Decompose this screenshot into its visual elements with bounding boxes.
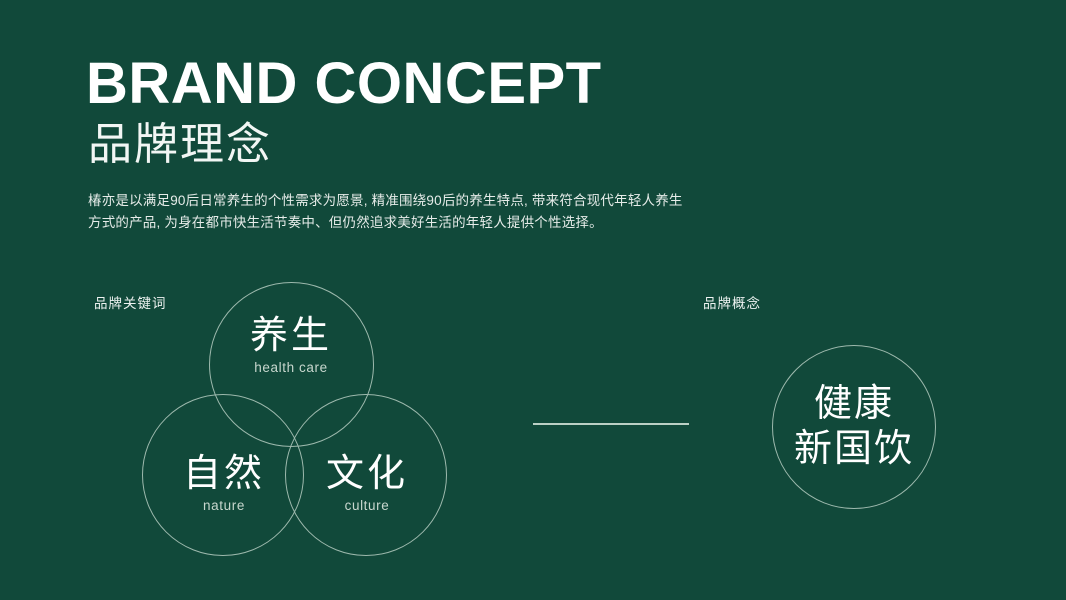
section-label-concept: 品牌概念 (703, 295, 761, 313)
connector-line (533, 423, 689, 425)
venn-label-nature-en: nature (144, 497, 304, 515)
venn-label-culture-en: culture (287, 497, 447, 515)
slide-brand-concept: BRAND CONCEPT 品牌理念 椿亦是以满足90后日常养生的个性需求为愿景… (0, 0, 1066, 600)
page-title-cn: 品牌理念 (88, 120, 272, 170)
venn-label-nature: 自然 nature (144, 452, 304, 515)
venn-diagram: 养生 health care 自然 nature 文化 culture (120, 270, 480, 580)
venn-label-health-care-en: health care (211, 359, 371, 377)
venn-label-nature-cn: 自然 (144, 452, 304, 496)
intro-paragraph: 椿亦是以满足90后日常养生的个性需求为愿景, 精准围绕90后的养生特点, 带来符… (88, 190, 688, 234)
venn-label-culture: 文化 culture (287, 452, 447, 515)
concept-circle: 健康 新国饮 (772, 345, 936, 509)
venn-label-health-care-cn: 养生 (211, 314, 371, 358)
venn-label-culture-cn: 文化 (287, 452, 447, 496)
venn-label-health-care: 养生 health care (211, 314, 371, 377)
page-title-en: BRAND CONCEPT (86, 53, 602, 115)
concept-line-2: 新国饮 (794, 427, 914, 472)
concept-line-1: 健康 (814, 382, 894, 427)
